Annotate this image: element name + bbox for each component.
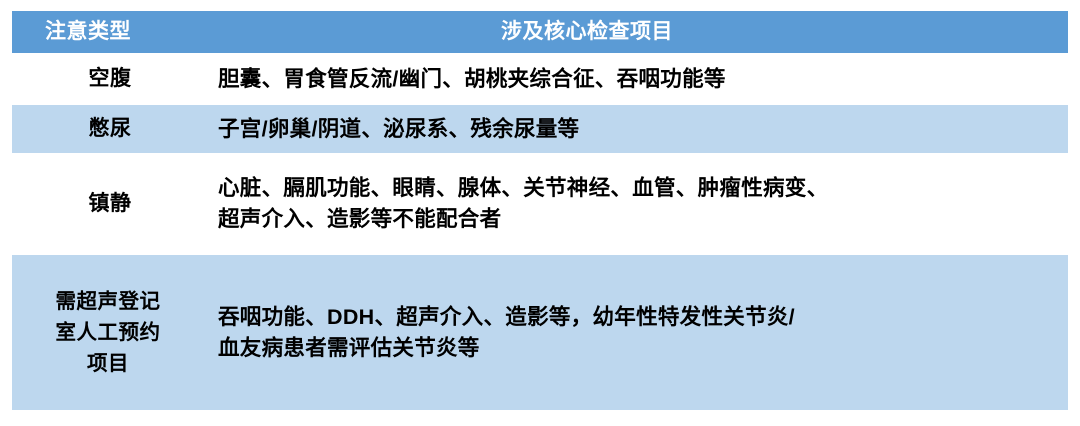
- cell-attention-type: 空腹: [12, 65, 208, 93]
- cell-text-line: 超声介入、造影等不能配合者: [218, 204, 1068, 235]
- header-cell-core-exam-items: 涉及核心检查项目: [208, 17, 1068, 47]
- table-row: 镇静 心脏、膈肌功能、眼睛、腺体、关节神经、血管、肿瘤性病变、 超声介入、造影等…: [12, 153, 1068, 255]
- table-row: 需超声登记 室人工预约 项目 吞咽功能、DDH、超声介入、造影等，幼年性特发性关…: [12, 255, 1068, 410]
- header-cell-attention-type: 注意类型: [12, 18, 208, 46]
- cell-core-exam-items: 心脏、膈肌功能、眼睛、腺体、关节神经、血管、肿瘤性病变、 超声介入、造影等不能配…: [208, 173, 1068, 234]
- cell-attention-type: 镇静: [12, 190, 208, 218]
- cell-text-line: 子宫/卵巢/阴道、泌尿系、残余尿量等: [218, 114, 1068, 145]
- table-row: 空腹 胆囊、胃食管反流/幽门、胡桃夹综合征、吞咽功能等: [12, 53, 1068, 105]
- table-header-row: 注意类型 涉及核心检查项目: [12, 11, 1068, 53]
- cell-text-line: 胆囊、胃食管反流/幽门、胡桃夹综合征、吞咽功能等: [218, 64, 1068, 95]
- table-row: 憋尿 子宫/卵巢/阴道、泌尿系、残余尿量等: [12, 105, 1068, 153]
- cell-text-line: 室人工预约: [30, 317, 186, 348]
- cell-text-line: 血友病患者需评估关节炎等: [218, 333, 1068, 364]
- cell-text-line: 吞咽功能、DDH、超声介入、造影等，幼年性特发性关节炎/: [218, 302, 1068, 333]
- cell-core-exam-items: 胆囊、胃食管反流/幽门、胡桃夹综合征、吞咽功能等: [208, 64, 1068, 95]
- cell-core-exam-items: 子宫/卵巢/阴道、泌尿系、残余尿量等: [208, 114, 1068, 145]
- attention-type-table: 注意类型 涉及核心检查项目 空腹 胆囊、胃食管反流/幽门、胡桃夹综合征、吞咽功能…: [12, 11, 1068, 415]
- cell-core-exam-items: 吞咽功能、DDH、超声介入、造影等，幼年性特发性关节炎/ 血友病患者需评估关节炎…: [208, 302, 1068, 363]
- cell-text-line: 需超声登记: [30, 286, 186, 317]
- cell-text-line: 项目: [30, 348, 186, 379]
- cell-attention-type: 需超声登记 室人工预约 项目: [12, 286, 208, 379]
- cell-text-line: 心脏、膈肌功能、眼睛、腺体、关节神经、血管、肿瘤性病变、: [218, 173, 1068, 204]
- cell-attention-type: 憋尿: [12, 115, 208, 143]
